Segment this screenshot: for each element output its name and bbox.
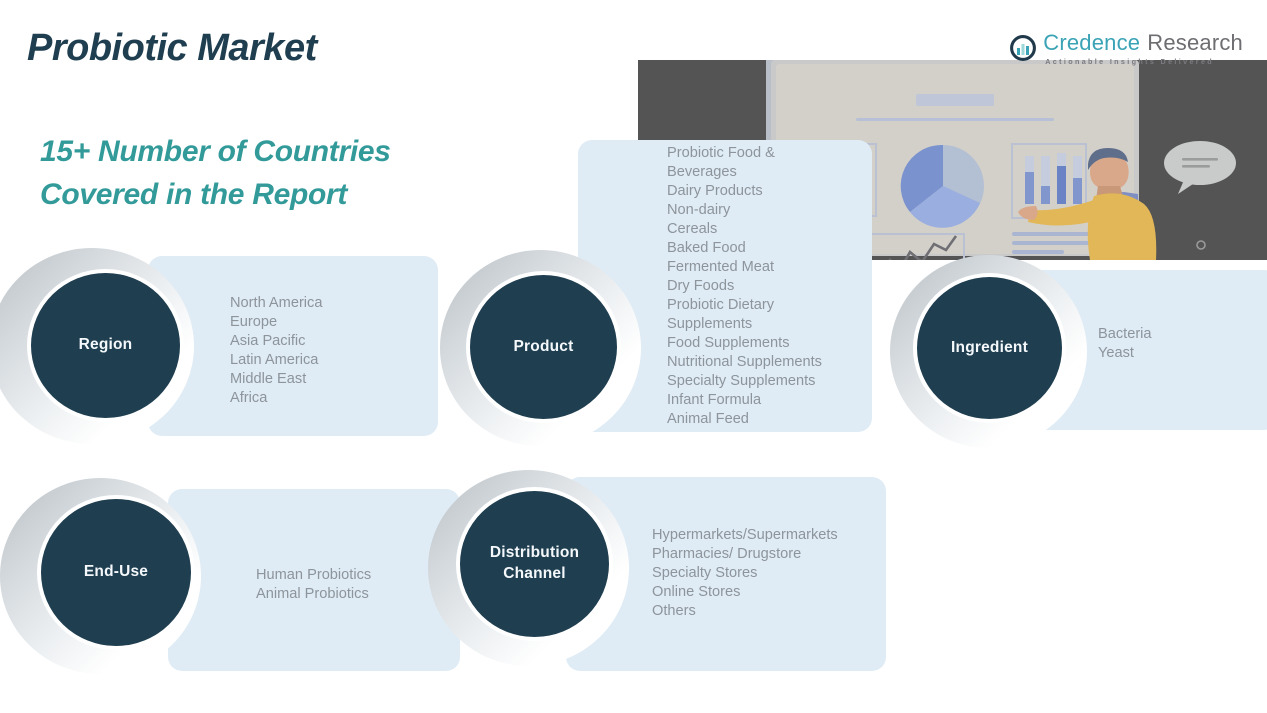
region-bubble-label[interactable]: Region <box>27 269 184 422</box>
product-bubble-label[interactable]: Product <box>466 271 621 423</box>
ingredient-item-list: Bacteria Yeast <box>1098 325 1152 363</box>
product-item-list: Probiotic Food & Beverages Dairy Product… <box>667 144 822 429</box>
logo-brand-line: Credence Research <box>1043 30 1243 56</box>
logo-text: Credence Research Actionable Insights De… <box>1043 30 1243 66</box>
page-title: Probiotic Market <box>27 27 317 70</box>
distribution-channel-bubble-label[interactable]: Distribution Channel <box>456 487 613 641</box>
distribution-channel-item-list: Hypermarkets/Supermarkets Pharmacies/ Dr… <box>652 526 838 621</box>
logo-tagline: Actionable Insights Delivered <box>1045 57 1243 66</box>
logo-brand-primary: Credence <box>1043 30 1140 56</box>
end-use-item-list: Human Probiotics Animal Probiotics <box>256 566 371 604</box>
bar-chart-circle-icon <box>1010 35 1036 61</box>
page-subtitle: 15+ Number of Countries Covered in the R… <box>40 131 391 217</box>
pie-chart-icon <box>901 145 984 228</box>
logo-brand-secondary: Research <box>1147 30 1243 56</box>
end-use-bubble-label[interactable]: End-Use <box>37 495 195 650</box>
region-item-list: North America Europe Asia Pacific Latin … <box>230 294 322 408</box>
credence-research-logo[interactable]: Credence Research Actionable Insights De… <box>1010 30 1243 66</box>
ingredient-bubble-label[interactable]: Ingredient <box>913 273 1066 423</box>
